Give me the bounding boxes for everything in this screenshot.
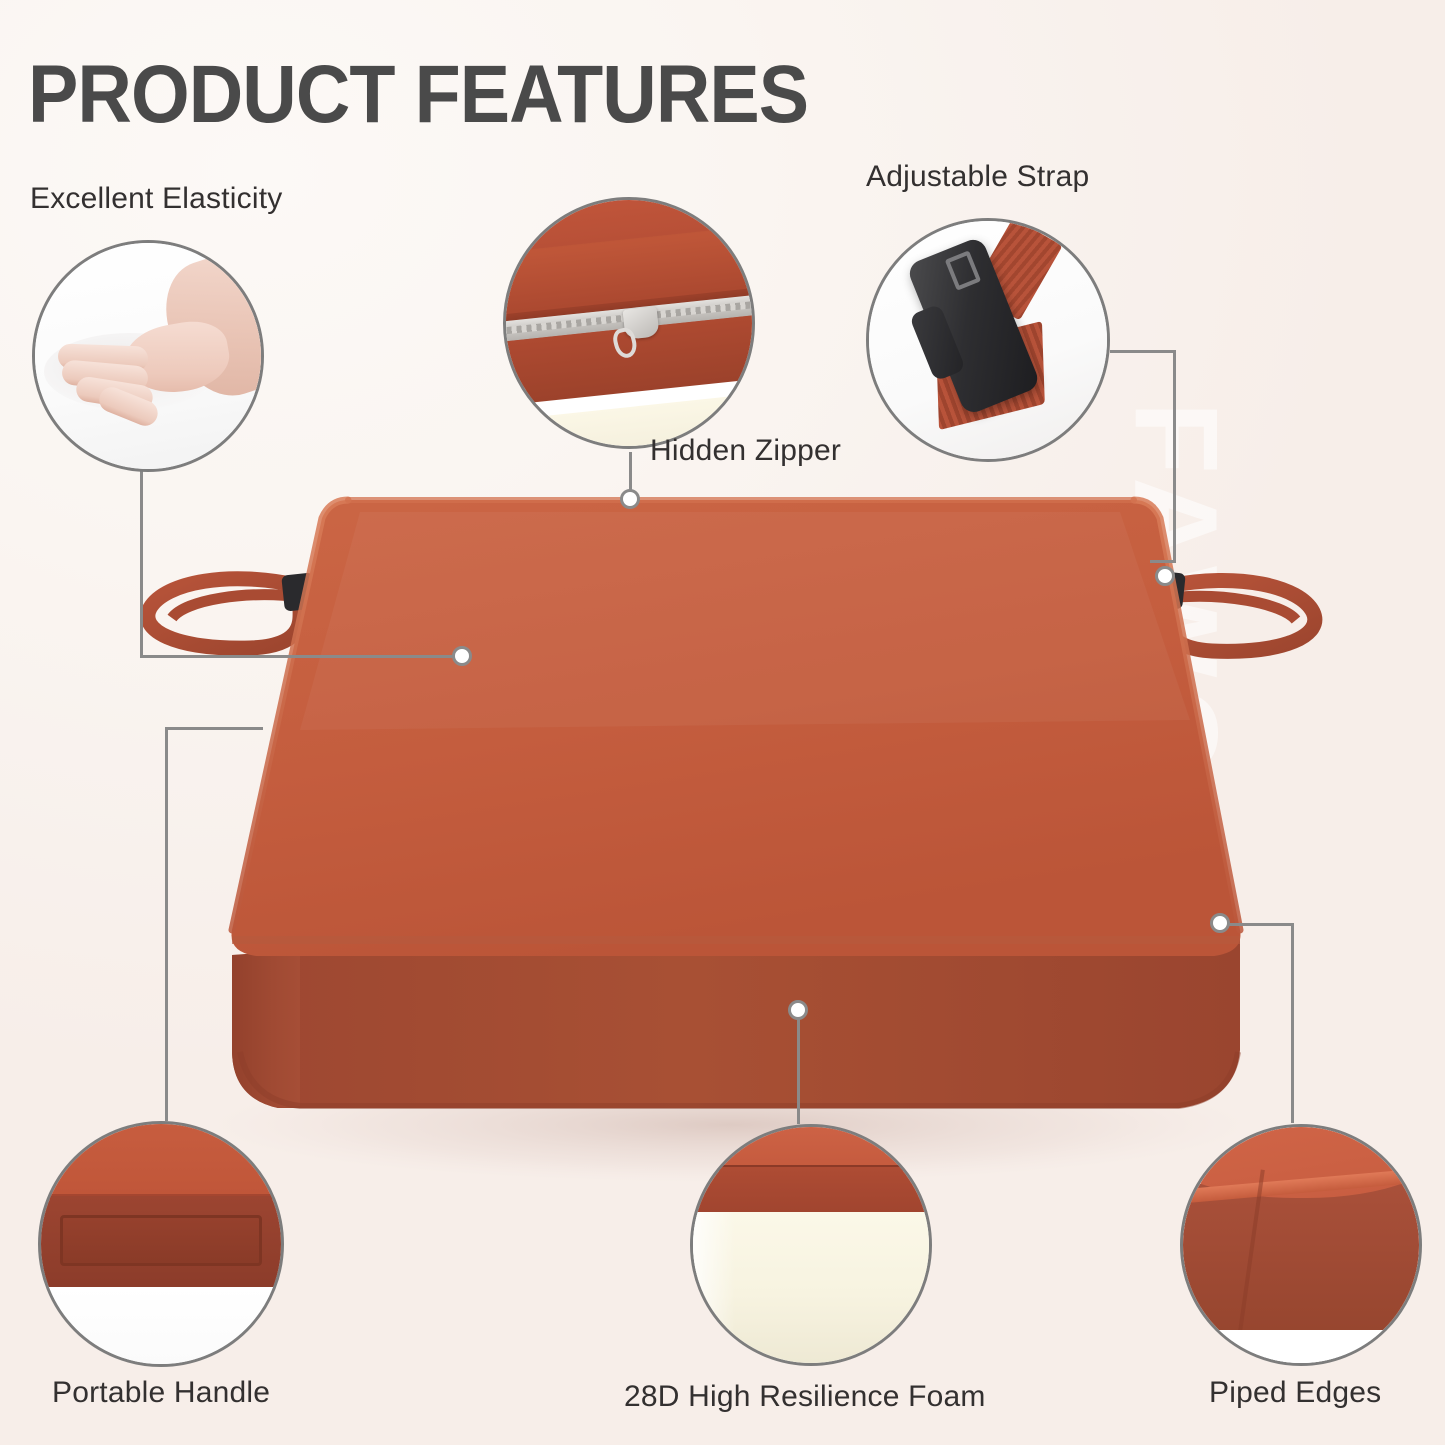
left-handle-strap bbox=[148, 572, 317, 648]
connector-strap-horizontal-top bbox=[1110, 350, 1176, 353]
feature-image-hidden-zipper bbox=[503, 197, 755, 449]
callout-dot-zipper bbox=[620, 489, 640, 509]
right-handle-strap bbox=[1150, 570, 1315, 651]
connector-foam-vertical bbox=[797, 1012, 800, 1124]
connector-elasticity-vertical bbox=[140, 465, 143, 657]
feature-image-excellent-elasticity bbox=[32, 240, 264, 472]
feature-label-piped-edges: Piped Edges bbox=[1209, 1376, 1381, 1410]
product-features-infographic: FAWOYAF PRODUCT FEATURES bbox=[0, 0, 1445, 1445]
connector-handle-vertical bbox=[165, 727, 168, 1121]
page-title: PRODUCT FEATURES bbox=[28, 48, 808, 142]
feature-label-excellent-elasticity: Excellent Elasticity bbox=[30, 182, 282, 216]
connector-piped-vertical bbox=[1291, 923, 1294, 1123]
connector-handle-horizontal bbox=[165, 727, 263, 730]
feature-image-adjustable-strap bbox=[866, 218, 1110, 462]
callout-dot-strap bbox=[1155, 566, 1175, 586]
feature-image-high-resilience-foam bbox=[690, 1124, 932, 1366]
connector-strap-horizontal-bottom bbox=[1150, 560, 1176, 563]
connector-strap-vertical bbox=[1173, 350, 1176, 562]
feature-label-hidden-zipper: Hidden Zipper bbox=[650, 434, 841, 468]
connector-elasticity-horizontal bbox=[140, 655, 462, 658]
feature-image-piped-edges bbox=[1180, 1124, 1422, 1366]
feature-label-portable-handle: Portable Handle bbox=[52, 1376, 270, 1410]
callout-dot-elasticity bbox=[452, 646, 472, 666]
feature-label-adjustable-strap: Adjustable Strap bbox=[866, 160, 1089, 194]
connector-piped-horizontal bbox=[1228, 923, 1294, 926]
feature-label-high-resilience-foam: 28D High Resilience Foam bbox=[624, 1380, 986, 1414]
callout-dot-piped bbox=[1210, 913, 1230, 933]
callout-dot-foam bbox=[788, 1000, 808, 1020]
feature-image-portable-handle bbox=[38, 1121, 284, 1367]
